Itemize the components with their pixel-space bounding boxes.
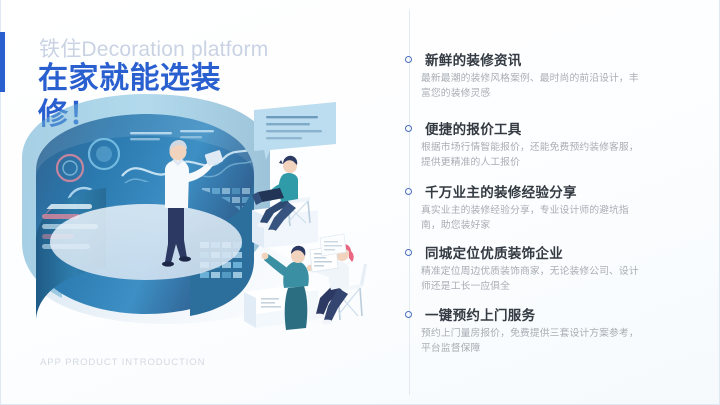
footer-caption: APP PRODUCT INTRODUCTION [40, 357, 205, 368]
feature-title: 同城定位优质装饰企业 [425, 242, 563, 262]
feature-description: 根据市场行情智能报价，还能免费预约装修客服，提供更精准的人工报价 [421, 141, 646, 170]
speech-bubble [254, 102, 336, 160]
feature-description: 最新最潮的装修风格案例、最时尚的前沿设计，丰富您的装修灵感 [421, 72, 646, 101]
left-column: 铁住Decoration platform 在家就能选装修！ [0, 0, 400, 405]
feature-list: 新鲜的装修资讯 最新最潮的装修风格案例、最时尚的前沿设计，丰富您的装修灵感 便捷… [380, 0, 720, 405]
feature-title: 一键预约上门服务 [425, 304, 535, 324]
feature-description: 预约上门量房报价，免费提供三套设计方案参考，平台监督保障 [421, 327, 646, 356]
slide-canvas: 铁住Decoration platform 在家就能选装修！ [0, 0, 720, 405]
bullet-circle-icon [405, 188, 412, 195]
feature-title: 便捷的报价工具 [425, 118, 522, 138]
bullet-circle-icon [405, 311, 412, 318]
hero-illustration [18, 92, 398, 347]
bullet-circle-icon [405, 249, 412, 256]
feature-title: 千万业主的装修经验分享 [425, 181, 577, 201]
feature-description: 精准定位周边优质装饰商家，无论装修公司、设计师还是工长一应俱全 [421, 265, 646, 294]
bullet-circle-icon [405, 56, 412, 63]
slide-subtitle: 铁住Decoration platform [39, 33, 268, 63]
feature-description: 真实业主的装修经验分享，专业设计师的避坑指南，助您装好家 [421, 204, 646, 233]
bullet-circle-icon [405, 125, 412, 132]
feature-title: 新鲜的装修资讯 [425, 49, 522, 69]
